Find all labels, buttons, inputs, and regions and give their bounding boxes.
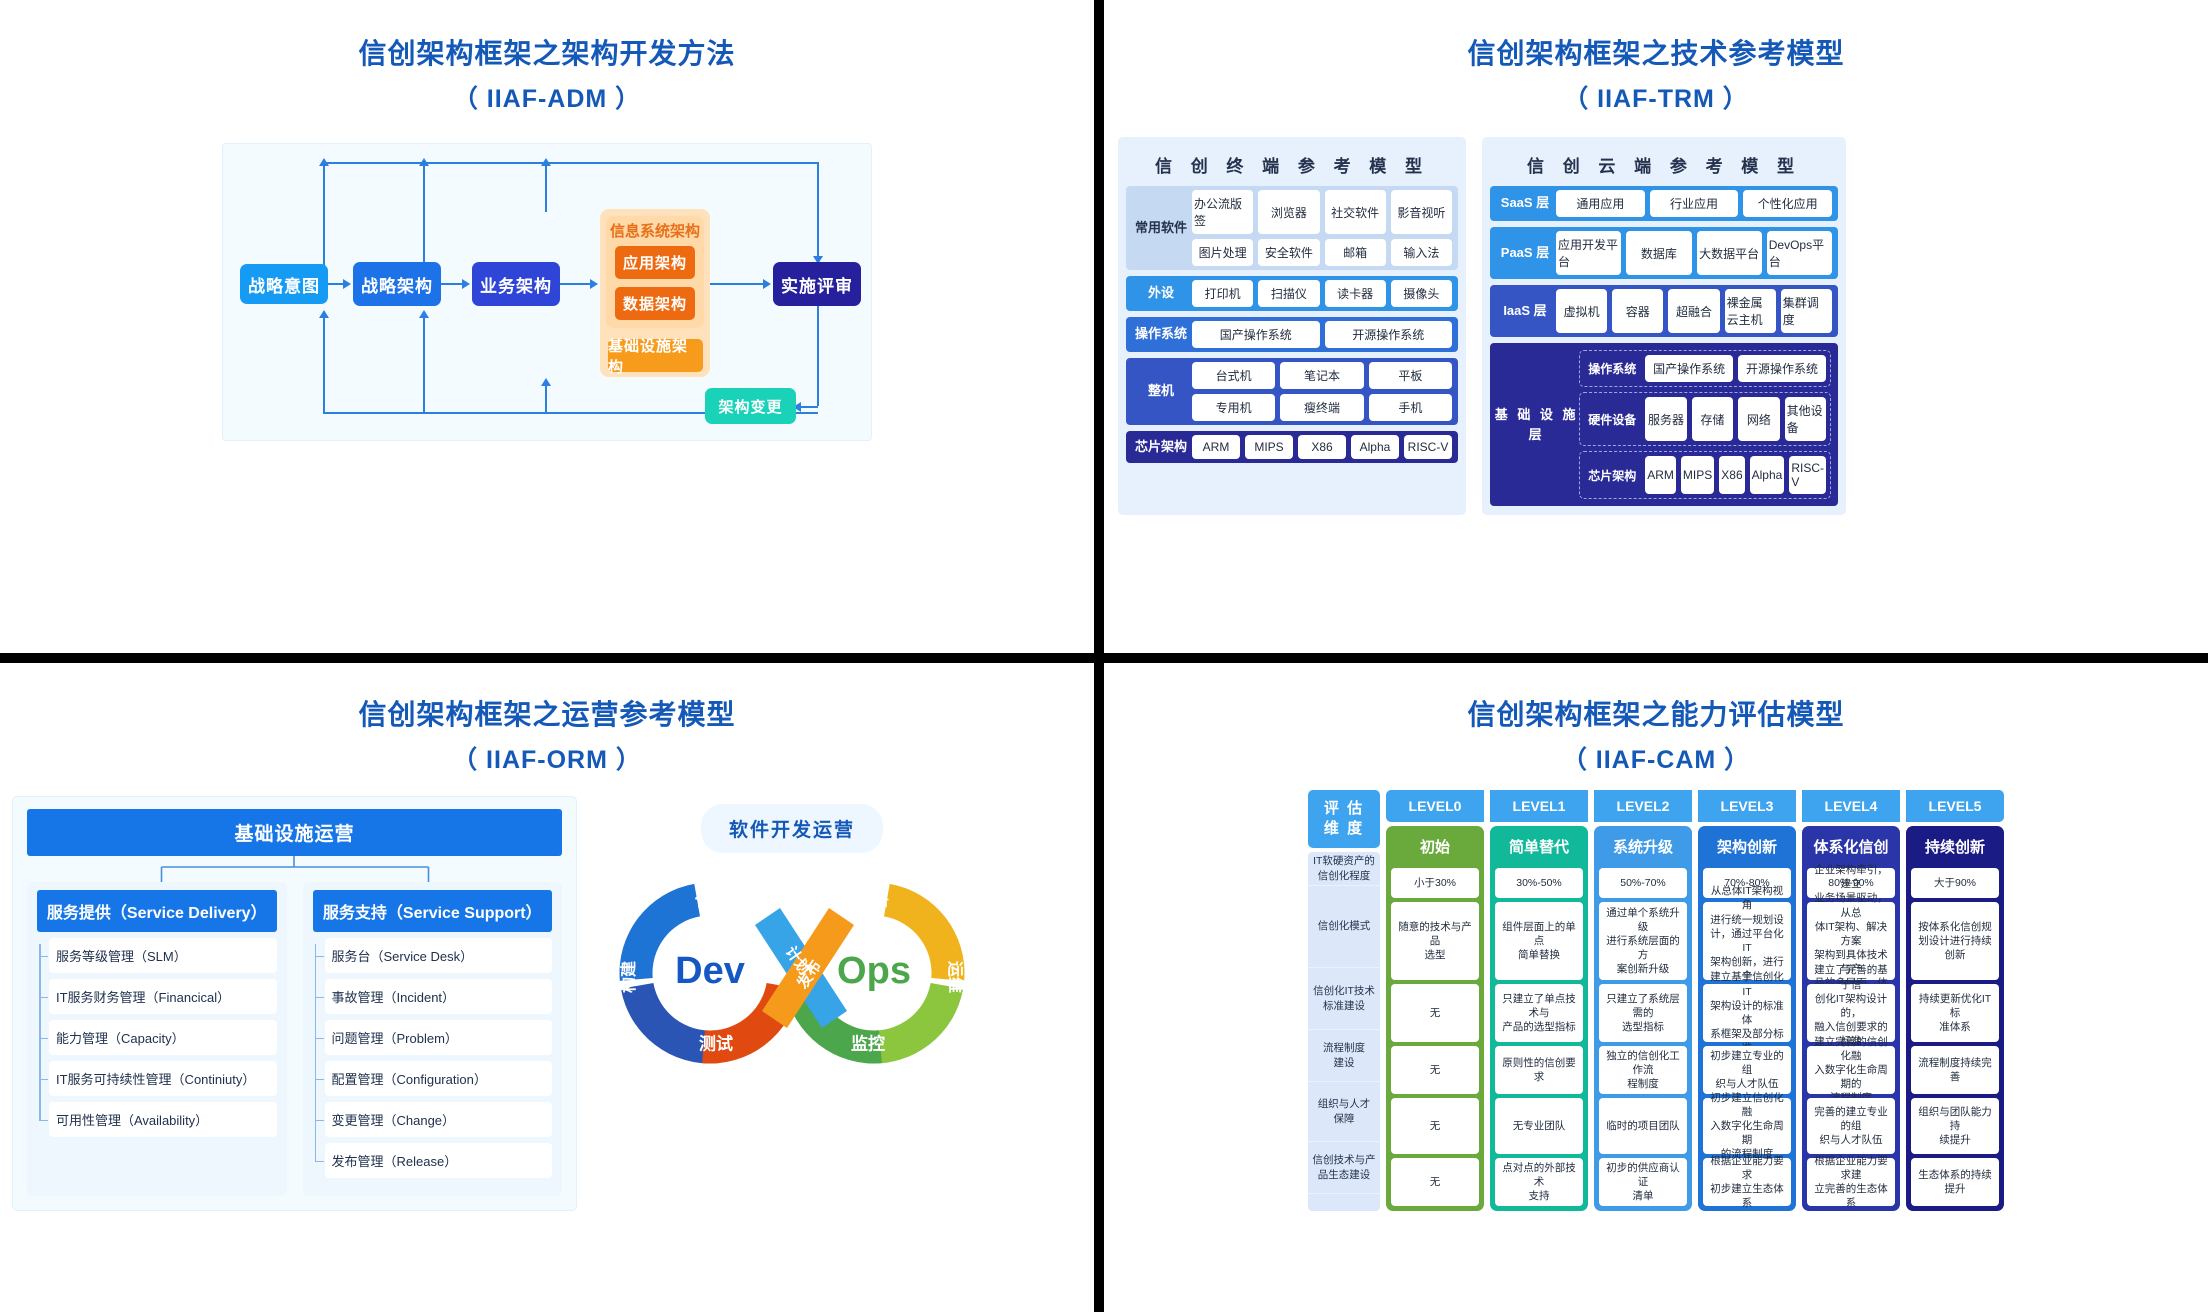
terminal-model-heading: 信 创 终 端 参 考 模 型 bbox=[1126, 144, 1458, 186]
devops-label-deploy: 部署 bbox=[855, 889, 889, 909]
cam-cell[interactable]: 通过单个系统升级 进行系统层面的方 案创新升级 bbox=[1599, 902, 1687, 980]
adm-title-cn: 信创架构框架之架构开发方法 bbox=[0, 32, 1094, 72]
cam-stage-label: 持续创新 bbox=[1911, 831, 1999, 864]
trm-row: 常用软件办公流版签浏览器社交软件影音视听图片处理安全软件邮箱输入法 bbox=[1126, 186, 1458, 270]
cam-cell[interactable]: 建立了完善的基于信 创化IT架构设计的， 融入信创要求的标准 体系 bbox=[1807, 984, 1895, 1042]
trm-cell[interactable]: 影音视听 bbox=[1391, 190, 1452, 234]
devops-ops-label: Ops bbox=[837, 950, 911, 992]
trm-cell[interactable]: 个性化应用 bbox=[1743, 190, 1832, 217]
adm-rail-up-3-head bbox=[541, 158, 551, 166]
orm-title-cn: 信创架构框架之运营参考模型 bbox=[0, 693, 1094, 733]
orm-column-header[interactable]: 服务提供（Service Delivery） bbox=[37, 890, 277, 932]
trm-cell[interactable]: 集群调度 bbox=[1781, 289, 1832, 333]
cam-cell[interactable]: 建立基于信创化IT 架构设计的标准体 系框架及部分标准 bbox=[1703, 984, 1791, 1042]
cam-dimension-cells: IT软硬资产的 信创化程度信创化模式信创化IT技术 标准建设流程制度 建设组织与… bbox=[1308, 852, 1380, 1211]
orm-item[interactable]: 事故管理（Incident） bbox=[325, 979, 553, 1014]
cam-level-body: 系统升级50%-70%通过单个系统升级 进行系统层面的方 案创新升级只建立了系统… bbox=[1594, 826, 1692, 1211]
orm-item[interactable]: 能力管理（Capacity） bbox=[49, 1020, 277, 1055]
trm-cell[interactable]: 浏览器 bbox=[1258, 190, 1319, 234]
orm-title: 信创架构框架之运营参考模型 （ IIAF-ORM ） bbox=[0, 693, 1094, 776]
cam-title-cn: 信创架构框架之能力评估模型 bbox=[1104, 693, 2208, 733]
cam-level-body: 架构创新70%-80%从总体IT架构视角 进行统一规划设 计，通过平台化IT 架… bbox=[1698, 826, 1796, 1211]
orm-item[interactable]: IT服务财务管理（Financical） bbox=[49, 979, 277, 1014]
adm-arrow-2-line bbox=[441, 283, 464, 285]
infra-row-cells: 服务器存储网络其他设备 bbox=[1645, 397, 1826, 441]
cam-cell[interactable]: 从总体IT架构视角 进行统一规划设 计，通过平台化IT 架构创新，进行全 局性的… bbox=[1703, 902, 1791, 980]
cam-matrix: 评 估维 度 IT软硬资产的 信创化程度信创化模式信创化IT技术 标准建设流程制… bbox=[1114, 790, 2198, 1211]
cam-dimension-cell: 信创技术与产 品生态建设 bbox=[1308, 1142, 1380, 1194]
infra-cell[interactable]: 开源操作系统 bbox=[1738, 355, 1826, 382]
trm-cell[interactable]: 图片处理 bbox=[1192, 239, 1253, 266]
trm-title-en: （ IIAF-TRM ） bbox=[1104, 79, 2208, 115]
orm-columns: 服务提供（Service Delivery）服务等级管理（SLM）IT服务财务管… bbox=[27, 882, 562, 1196]
cam-dimension-cell: 组织与人才 保障 bbox=[1308, 1082, 1380, 1142]
adm-arrow-1-head bbox=[343, 279, 351, 289]
infra-cell[interactable]: 存储 bbox=[1692, 397, 1733, 441]
cam-cell[interactable]: 随意的技术与产品 选型 bbox=[1391, 902, 1479, 980]
trm-cell[interactable]: X86 bbox=[1298, 435, 1346, 459]
trm-body: 信 创 终 端 参 考 模 型 常用软件办公流版签浏览器社交软件影音视听图片处理… bbox=[1118, 137, 2194, 515]
trm-cell[interactable]: 瘦终端 bbox=[1280, 394, 1363, 421]
node-strategy-intent[interactable]: 战略意图 bbox=[240, 264, 328, 304]
orm-column: 服务提供（Service Delivery）服务等级管理（SLM）IT服务财务管… bbox=[27, 882, 287, 1196]
cam-cell[interactable]: 独立的信创化工作流 程制度 bbox=[1599, 1046, 1687, 1094]
devops-label-monitor: 监控 bbox=[851, 1033, 885, 1053]
trm-row: IaaS 层虚拟机容器超融合裸金属云主机集群调度 bbox=[1490, 285, 1838, 337]
trm-cell[interactable]: 邮箱 bbox=[1325, 239, 1386, 266]
trm-cell[interactable]: 台式机 bbox=[1192, 362, 1275, 389]
panel-trm: 信创架构框架之技术参考模型 （ IIAF-TRM ） 信 创 终 端 参 考 模… bbox=[1104, 0, 2208, 653]
infra-cell[interactable]: 国产操作系统 bbox=[1645, 355, 1733, 382]
trm-row: SaaS 层通用应用行业应用个性化应用 bbox=[1490, 186, 1838, 221]
trm-row-label: 外设 bbox=[1130, 280, 1192, 307]
infra-row-label: 操作系统 bbox=[1584, 360, 1640, 377]
cam-stage-label: 体系化信创 bbox=[1807, 831, 1895, 864]
trm-row-label: 芯片架构 bbox=[1130, 435, 1192, 459]
cam-cell[interactable]: 持续更新优化IT标 准体系 bbox=[1911, 984, 1999, 1042]
trm-cell[interactable]: 行业应用 bbox=[1650, 190, 1739, 217]
cam-stage-label: 简单替代 bbox=[1495, 831, 1583, 864]
trm-cell[interactable]: 摄像头 bbox=[1391, 280, 1452, 307]
cam-cell[interactable]: 组件层面上的单点 简单替换 bbox=[1495, 902, 1583, 980]
infrastructure-layer-block: 基 础 设 施 层 操作系统国产操作系统开源操作系统硬件设备服务器存储网络其他设… bbox=[1490, 343, 1838, 506]
adm-arrow-3-head bbox=[590, 279, 598, 289]
trm-row-cells: 虚拟机容器超融合裸金属云主机集群调度 bbox=[1556, 289, 1832, 333]
adm-title: 信创架构框架之架构开发方法 （ IIAF-ADM ） bbox=[0, 32, 1094, 115]
adm-rail-dn-1-head bbox=[319, 310, 329, 318]
trm-row: PaaS 层应用开发平台数据库大数据平台DevOps平台 bbox=[1490, 227, 1838, 279]
trm-row-cells: ARMMIPSX86AlphaRISC-V bbox=[1192, 435, 1452, 459]
adm-rail-top-h bbox=[323, 162, 818, 164]
cam-dimension-header: 评 估维 度 bbox=[1308, 790, 1380, 848]
infra-cell[interactable]: Alpha bbox=[1750, 456, 1785, 494]
node-implementation-review[interactable]: 实施评审 bbox=[773, 262, 861, 306]
cam-stage-label: 系统升级 bbox=[1599, 831, 1687, 864]
cam-level-body: 体系化信创80%-90%企业架构牵引，建立 业务场景驱动，从总 体IT架构、解决… bbox=[1802, 826, 1900, 1211]
adm-rail-dn-2 bbox=[423, 314, 425, 412]
cam-cell[interactable]: 根据企业能力要求建 立完善的生态体系 bbox=[1807, 1158, 1895, 1206]
adm-arrow-4-line bbox=[710, 283, 765, 285]
trm-row-label: IaaS 层 bbox=[1494, 289, 1556, 333]
trm-row-cells: 通用应用行业应用个性化应用 bbox=[1556, 190, 1832, 217]
cam-dimension-cell: IT软硬资产的 信创化程度 bbox=[1308, 852, 1380, 886]
cam-level-column: LEVEL3架构创新70%-80%从总体IT架构视角 进行统一规划设 计，通过平… bbox=[1698, 790, 1796, 1211]
trm-row-cells: 应用开发平台数据库大数据平台DevOps平台 bbox=[1556, 231, 1832, 275]
cam-level-header: LEVEL3 bbox=[1698, 790, 1796, 822]
adm-arrow-4-head bbox=[763, 279, 771, 289]
cam-level-header: LEVEL4 bbox=[1802, 790, 1900, 822]
orm-column-header[interactable]: 服务支持（Service Support） bbox=[313, 890, 553, 932]
trm-cell[interactable]: 开源操作系统 bbox=[1325, 321, 1453, 348]
devops-infinity-diagram: DevOps代码构建测试部署运维监控计划发布 bbox=[577, 853, 1007, 1093]
panel-adm: 信创架构框架之架构开发方法 （ IIAF-ADM ） bbox=[0, 0, 1094, 653]
trm-title-cn: 信创架构框架之技术参考模型 bbox=[1104, 32, 2208, 72]
cam-dimension-cell: 信创化IT技术 标准建设 bbox=[1308, 968, 1380, 1030]
cam-title-en: （ IIAF-CAM ） bbox=[1104, 740, 2208, 776]
trm-cell[interactable]: Alpha bbox=[1351, 435, 1399, 459]
orm-body: 基础设施运营 服务提供（Service Delivery）服务等级管理（SLM）… bbox=[12, 796, 1082, 1211]
trm-row-cells: 办公流版签浏览器社交软件影音视听图片处理安全软件邮箱输入法 bbox=[1192, 190, 1452, 266]
cam-level-column: LEVEL4体系化信创80%-90%企业架构牵引，建立 业务场景驱动，从总 体I… bbox=[1802, 790, 1900, 1211]
orm-item[interactable]: 服务等级管理（SLM） bbox=[49, 938, 277, 973]
cam-level-header: LEVEL5 bbox=[1906, 790, 2004, 822]
cam-level-column: LEVEL0初始小于30%随意的技术与产品 选型无无无无 bbox=[1386, 790, 1484, 1211]
cam-dimension-cell: 流程制度 建设 bbox=[1308, 1030, 1380, 1082]
adm-rail-up-3 bbox=[545, 162, 547, 212]
infra-cell[interactable]: ARM bbox=[1645, 456, 1676, 494]
cam-cell[interactable]: 只建立了系统层需的 选型指标 bbox=[1599, 984, 1687, 1042]
info-system-arch-label: 信息系统架构 bbox=[600, 220, 710, 241]
cam-level-body: 简单替代30%-50%组件层面上的单点 简单替换只建立了单点技术与 产品的选型指… bbox=[1490, 826, 1588, 1211]
node-architecture-change[interactable]: 架构变更 bbox=[705, 388, 796, 424]
cam-cell[interactable]: 无 bbox=[1391, 984, 1479, 1042]
cam-cell[interactable]: 完善的建立专业的组 织与人才队伍 bbox=[1807, 1098, 1895, 1154]
infra-row-label: 芯片架构 bbox=[1584, 467, 1640, 484]
cam-level-column: LEVEL1简单替代30%-50%组件层面上的单点 简单替换只建立了单点技术与 … bbox=[1490, 790, 1588, 1211]
trm-cell[interactable]: 安全软件 bbox=[1258, 239, 1319, 266]
trm-cell[interactable]: RISC-V bbox=[1404, 435, 1452, 459]
trm-row-label: 操作系统 bbox=[1130, 321, 1192, 348]
adm-rail-up-2 bbox=[423, 162, 425, 267]
cam-stage-label: 初始 bbox=[1391, 831, 1479, 864]
adm-arrow-2-head bbox=[462, 279, 470, 289]
trm-cell[interactable]: 扫描仪 bbox=[1258, 280, 1319, 307]
devops-label-code: 代码 bbox=[694, 889, 729, 909]
terminal-reference-model: 信 创 终 端 参 考 模 型 常用软件办公流版签浏览器社交软件影音视听图片处理… bbox=[1118, 137, 1466, 515]
devops-label-build: 构建 bbox=[619, 961, 638, 993]
orm-title-en: （ IIAF-ORM ） bbox=[0, 740, 1094, 776]
adm-rail-dn-3-head bbox=[541, 378, 551, 386]
cam-level-header: LEVEL0 bbox=[1386, 790, 1484, 822]
cloud-rows: SaaS 层通用应用行业应用个性化应用PaaS 层应用开发平台数据库大数据平台D… bbox=[1490, 186, 1838, 337]
cam-cell[interactable]: 初步建立信创化融 入数字化生命周期 的流程制度 bbox=[1703, 1098, 1791, 1154]
cam-cell[interactable]: 点对点的外部技术 支持 bbox=[1495, 1158, 1583, 1206]
infra-row: 芯片架构ARMMIPSX86AlphaRISC-V bbox=[1579, 451, 1831, 499]
cam-cell[interactable]: 原则性的信创要求 bbox=[1495, 1046, 1583, 1094]
adm-arrow-3-line bbox=[560, 283, 592, 285]
cam-title: 信创架构框架之能力评估模型 （ IIAF-CAM ） bbox=[1104, 693, 2208, 776]
adm-diagram: 信息系统架构 战略意图 战略架构 业务架构 应用架构 数据架构 基础设施架构 实… bbox=[222, 143, 872, 441]
trm-cell[interactable]: 数据库 bbox=[1626, 231, 1691, 275]
trm-cell[interactable]: 笔记本 bbox=[1280, 362, 1363, 389]
orm-column: 服务支持（Service Support）服务台（Service Desk）事故… bbox=[303, 882, 563, 1196]
trm-cell[interactable]: 超融合 bbox=[1668, 289, 1719, 333]
cam-cell[interactable]: 临时的项目团队 bbox=[1599, 1098, 1687, 1154]
devops-dev-label: Dev bbox=[675, 950, 745, 992]
infra-cell[interactable]: MIPS bbox=[1681, 456, 1714, 494]
orm-item[interactable]: 发布管理（Release） bbox=[325, 1143, 553, 1178]
cam-level-header: LEVEL2 bbox=[1594, 790, 1692, 822]
trm-row-cells: 打印机扫描仪读卡器摄像头 bbox=[1192, 280, 1452, 307]
cam-cell[interactable]: 按体系化信创规 划设计进行持续 创新 bbox=[1911, 902, 1999, 980]
devops-label-operate: 运维 bbox=[946, 961, 965, 993]
trm-cell[interactable]: 应用开发平台 bbox=[1556, 231, 1621, 275]
infra-cell[interactable]: RISC-V bbox=[1789, 456, 1826, 494]
infra-cell[interactable]: 服务器 bbox=[1645, 397, 1686, 441]
trm-row-label: PaaS 层 bbox=[1494, 231, 1556, 275]
cam-cell[interactable]: 初步建立专业的组 织与人才队伍 bbox=[1703, 1046, 1791, 1094]
trm-cell[interactable]: 大数据平台 bbox=[1697, 231, 1762, 275]
trm-cell[interactable]: DevOps平台 bbox=[1767, 231, 1832, 275]
adm-rail-dn-2-head bbox=[419, 310, 429, 318]
infra-row-cells: 国产操作系统开源操作系统 bbox=[1645, 355, 1826, 382]
trm-title: 信创架构框架之技术参考模型 （ IIAF-TRM ） bbox=[1104, 32, 2208, 115]
cam-cell[interactable]: 无 bbox=[1391, 1098, 1479, 1154]
trm-cell[interactable]: MIPS bbox=[1245, 435, 1293, 459]
infra-cell[interactable]: 其他设备 bbox=[1785, 397, 1826, 441]
cam-level-columns: LEVEL0初始小于30%随意的技术与产品 选型无无无无LEVEL1简单替代30… bbox=[1386, 790, 2004, 1211]
infra-row-cells: ARMMIPSX86AlphaRISC-V bbox=[1645, 456, 1826, 494]
cam-dimension-header-line: 评 估 bbox=[1324, 799, 1364, 819]
cam-cell[interactable]: 生态体系的持续 提升 bbox=[1911, 1158, 1999, 1206]
trm-cell[interactable]: 专用机 bbox=[1192, 394, 1275, 421]
orm-item[interactable]: 变更管理（Change） bbox=[325, 1102, 553, 1137]
cloud-model-heading: 信 创 云 端 参 考 模 型 bbox=[1490, 144, 1838, 186]
devops-label-test: 测试 bbox=[699, 1033, 733, 1053]
cam-cell[interactable]: 无专业团队 bbox=[1495, 1098, 1583, 1154]
devops-infinity-svg: DevOps代码构建测试部署运维监控计划发布 bbox=[592, 853, 992, 1088]
cam-dimension-header-line: 维 度 bbox=[1324, 819, 1364, 839]
orm-item[interactable]: 服务台（Service Desk） bbox=[325, 938, 553, 973]
node-data-architecture[interactable]: 数据架构 bbox=[615, 287, 695, 320]
cam-cell[interactable]: 组织与团队能力持 续提升 bbox=[1911, 1098, 1999, 1154]
trm-cell[interactable]: 打印机 bbox=[1192, 280, 1253, 307]
trm-cell[interactable]: 国产操作系统 bbox=[1192, 321, 1320, 348]
adm-rail-dn-1 bbox=[323, 314, 325, 412]
adm-rail-dn-3 bbox=[545, 382, 547, 412]
node-infrastructure-architecture[interactable]: 基础设施架构 bbox=[608, 339, 703, 372]
trm-row-label: SaaS 层 bbox=[1494, 190, 1556, 217]
trm-row: 芯片架构ARMMIPSX86AlphaRISC-V bbox=[1126, 431, 1458, 463]
cloud-reference-model: 信 创 云 端 参 考 模 型 SaaS 层通用应用行业应用个性化应用PaaS … bbox=[1482, 137, 1846, 515]
infra-cell[interactable]: 网络 bbox=[1738, 397, 1779, 441]
panel-orm: 信创架构框架之运营参考模型 （ IIAF-ORM ） 基础设施运营 服务提供（S… bbox=[0, 663, 1094, 1312]
trm-row-label: 常用软件 bbox=[1130, 190, 1192, 266]
orm-item[interactable]: 可用性管理（Availability） bbox=[49, 1102, 277, 1137]
adm-rail-up-1 bbox=[323, 162, 325, 267]
cam-cell[interactable]: 50%-70% bbox=[1599, 868, 1687, 898]
cam-cell[interactable]: 流程制度持续完善 bbox=[1911, 1046, 1999, 1094]
trm-cell[interactable]: 容器 bbox=[1612, 289, 1663, 333]
adm-rail-right-v bbox=[817, 162, 819, 262]
infra-row: 硬件设备服务器存储网络其他设备 bbox=[1579, 392, 1831, 446]
cam-cell[interactable]: 无 bbox=[1391, 1046, 1479, 1094]
trm-row-label: 整机 bbox=[1130, 362, 1192, 421]
cam-level-column: LEVEL5持续创新大于90%按体系化信创规 划设计进行持续 创新持续更新优化I… bbox=[1906, 790, 2004, 1211]
cam-cell[interactable]: 大于90% bbox=[1911, 868, 1999, 898]
panel-cam: 信创架构框架之能力评估模型 （ IIAF-CAM ） 评 估维 度 IT软硬资产… bbox=[1104, 663, 2208, 1312]
infrastructure-layer-label: 基 础 设 施 层 bbox=[1494, 350, 1579, 499]
cam-cell[interactable]: 无 bbox=[1391, 1158, 1479, 1206]
cam-cell[interactable]: 30%-50% bbox=[1495, 868, 1583, 898]
cam-cell[interactable]: 建立完善的信创化融 入数字化生命周期的 流程制度 bbox=[1807, 1046, 1895, 1094]
infra-row-label: 硬件设备 bbox=[1584, 411, 1640, 428]
cam-dimension-column: 评 估维 度 IT软硬资产的 信创化程度信创化模式信创化IT技术 标准建设流程制… bbox=[1308, 790, 1380, 1211]
trm-cell[interactable]: 裸金属云主机 bbox=[1725, 289, 1776, 333]
orm-item-list: 服务等级管理（SLM）IT服务财务管理（Financical）能力管理（Capa… bbox=[37, 938, 277, 1137]
infrastructure-rows: 操作系统国产操作系统开源操作系统硬件设备服务器存储网络其他设备芯片架构ARMMI… bbox=[1579, 350, 1831, 499]
orm-item[interactable]: 问题管理（Problem） bbox=[325, 1020, 553, 1055]
trm-row-cells: 国产操作系统开源操作系统 bbox=[1192, 321, 1452, 348]
devops-pill-label: 软件开发运营 bbox=[701, 804, 883, 853]
trm-cell[interactable]: 通用应用 bbox=[1556, 190, 1645, 217]
orm-tree: 基础设施运营 服务提供（Service Delivery）服务等级管理（SLM）… bbox=[12, 796, 577, 1211]
orm-item[interactable]: 配置管理（Configuration） bbox=[325, 1061, 553, 1096]
adm-rail-right-dn bbox=[817, 306, 819, 406]
devops-section: 软件开发运营 DevOps代码构建测试部署运维监控计划发布 bbox=[577, 796, 1007, 1093]
cam-level-body: 初始小于30%随意的技术与产品 选型无无无无 bbox=[1386, 826, 1484, 1211]
adm-change-in-line bbox=[801, 406, 818, 408]
cam-cell[interactable]: 只建立了单点技术与 产品的选型指标 bbox=[1495, 984, 1583, 1042]
node-application-architecture[interactable]: 应用架构 bbox=[615, 246, 695, 279]
trm-cell[interactable]: ARM bbox=[1192, 435, 1240, 459]
orm-connector-svg bbox=[27, 856, 562, 882]
trm-row: 操作系统国产操作系统开源操作系统 bbox=[1126, 317, 1458, 352]
trm-row: 外设打印机扫描仪读卡器摄像头 bbox=[1126, 276, 1458, 311]
trm-row: 整机台式机笔记本平板专用机瘦终端手机 bbox=[1126, 358, 1458, 425]
poster-root: 信创架构框架之架构开发方法 （ IIAF-ADM ） bbox=[0, 0, 2208, 1312]
terminal-rows: 常用软件办公流版签浏览器社交软件影音视听图片处理安全软件邮箱输入法外设打印机扫描… bbox=[1126, 186, 1458, 463]
trm-cell[interactable]: 办公流版签 bbox=[1192, 190, 1253, 234]
orm-connector bbox=[27, 856, 562, 882]
trm-cell[interactable]: 输入法 bbox=[1391, 239, 1452, 266]
cam-level-header: LEVEL1 bbox=[1490, 790, 1588, 822]
adm-title-en: （ IIAF-ADM ） bbox=[0, 79, 1094, 115]
cam-level-body: 持续创新大于90%按体系化信创规 划设计进行持续 创新持续更新优化IT标 准体系… bbox=[1906, 826, 2004, 1211]
trm-cell[interactable]: 读卡器 bbox=[1325, 280, 1386, 307]
node-strategy-architecture[interactable]: 战略架构 bbox=[353, 262, 441, 306]
orm-item[interactable]: IT服务可持续性管理（Continiuty） bbox=[49, 1061, 277, 1096]
orm-root-node[interactable]: 基础设施运营 bbox=[27, 809, 562, 856]
adm-rail-up-1-head bbox=[319, 158, 329, 166]
trm-cell[interactable]: 平板 bbox=[1369, 362, 1452, 389]
cam-stage-label: 架构创新 bbox=[1703, 831, 1791, 864]
node-business-architecture[interactable]: 业务架构 bbox=[472, 262, 560, 306]
cam-cell[interactable]: 小于30% bbox=[1391, 868, 1479, 898]
cam-dimension-cell: 信创化模式 bbox=[1308, 886, 1380, 968]
infra-row: 操作系统国产操作系统开源操作系统 bbox=[1579, 350, 1831, 387]
trm-cell[interactable]: 手机 bbox=[1369, 394, 1452, 421]
orm-item-list: 服务台（Service Desk）事故管理（Incident）问题管理（Prob… bbox=[313, 938, 553, 1178]
trm-cell[interactable]: 社交软件 bbox=[1325, 190, 1386, 234]
adm-rail-up-2-head bbox=[419, 158, 429, 166]
cam-cell[interactable]: 根据企业能力要求 初步建立生态体系 bbox=[1703, 1158, 1791, 1206]
trm-cell[interactable]: 虚拟机 bbox=[1556, 289, 1607, 333]
cam-level-column: LEVEL2系统升级50%-70%通过单个系统升级 进行系统层面的方 案创新升级… bbox=[1594, 790, 1692, 1211]
infra-cell[interactable]: X86 bbox=[1719, 456, 1744, 494]
cam-cell[interactable]: 初步的供应商认证 清单 bbox=[1599, 1158, 1687, 1206]
trm-row-cells: 台式机笔记本平板专用机瘦终端手机 bbox=[1192, 362, 1452, 421]
